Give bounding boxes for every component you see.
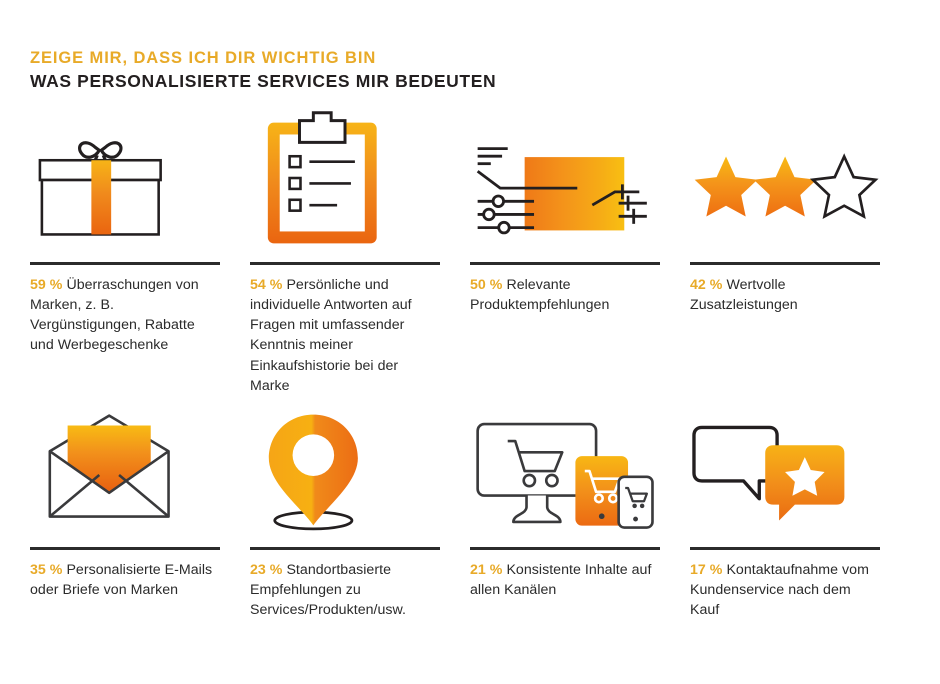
icon-container-8 [690,410,880,535]
stat-percent-5: 35 % [30,562,62,578]
chat-bubbles-star-icon [692,415,880,530]
stats-grid: 59 % Überraschungen von Marken, z. B. Ve… [30,110,910,640]
icon-container-5 [30,410,220,535]
divider-4 [690,262,880,265]
stat-text-2: Persönliche und individuelle Antworten a… [250,277,412,394]
divider-2 [250,262,440,265]
stat-caption-1: 59 % Überraschungen von Marken, z. B. Ve… [30,275,216,356]
icon-container-7 [470,410,660,535]
star-empty-3 [813,157,876,217]
stat-percent-7: 21 % [470,562,502,578]
stat-percent-6: 23 % [250,562,282,578]
map-pin-location-icon [252,410,440,535]
icon-container-1 [30,110,220,250]
poster-headline: WAS PERSONALISIERTE SERVICES MIR BEDEUTE… [30,71,890,93]
infographic-poster: ZEIGE MIR, DASS ICH DIR WICHTIG BIN WAS … [0,0,940,684]
stat-caption-3: 50 % Relevante Produktempfehlungen [470,275,656,315]
stat-percent-8: 17 % [690,562,722,578]
poster-header: ZEIGE MIR, DASS ICH DIR WICHTIG BIN WAS … [30,48,890,93]
star-filled-1 [695,157,758,217]
icon-container-2 [250,110,440,250]
three-stars-rating-icon [692,140,880,250]
stat-percent-4: 42 % [690,277,722,293]
stat-percent-2: 54 % [250,277,282,293]
stat-card-1: 59 % Überraschungen von Marken, z. B. Ve… [30,110,220,410]
stat-caption-8: 17 % Kontaktaufnahme vom Kundenservice n… [690,560,876,620]
stat-card-4: 42 % Wertvolle Zusatzleistungen [690,110,880,410]
stat-caption-5: 35 % Personalisierte E-Mails oder Briefe… [30,560,216,600]
icon-container-4 [690,110,880,250]
divider-3 [470,262,660,265]
stat-caption-6: 23 % Standortbasierte Empfehlungen zu Se… [250,560,436,620]
clipboard-checklist-icon [252,108,440,250]
stat-card-6: 23 % Standortbasierte Empfehlungen zu Se… [250,410,440,640]
stat-card-8: 17 % Kontaktaufnahme vom Kundenservice n… [690,410,880,640]
stat-percent-1: 59 % [30,277,62,293]
divider-8 [690,547,880,550]
star-filled-2 [754,157,817,217]
divider-5 [30,547,220,550]
multi-device-cart-icon [472,413,660,533]
stat-caption-2: 54 % Persönliche und individuelle Antwor… [250,275,436,396]
open-envelope-icon [32,413,220,533]
sliders-settings-icon [472,130,660,250]
stat-card-5: 35 % Personalisierte E-Mails oder Briefe… [30,410,220,640]
icon-container-3 [470,110,660,250]
stats-row-top: 59 % Überraschungen von Marken, z. B. Ve… [30,110,910,410]
stat-caption-7: 21 % Konsistente Inhalte auf allen Kanäl… [470,560,656,600]
gift-box-icon [32,115,220,250]
divider-7 [470,547,660,550]
divider-1 [30,262,220,265]
icon-container-6 [250,410,440,535]
stat-card-3: 50 % Relevante Produktempfehlungen [470,110,660,410]
stat-caption-4: 42 % Wertvolle Zusatzleistungen [690,275,876,315]
stat-card-7: 21 % Konsistente Inhalte auf allen Kanäl… [470,410,660,640]
poster-kicker: ZEIGE MIR, DASS ICH DIR WICHTIG BIN [30,48,890,69]
stat-percent-3: 50 % [470,277,502,293]
stat-card-2: 54 % Persönliche und individuelle Antwor… [250,110,440,410]
divider-6 [250,547,440,550]
stats-row-bottom: 35 % Personalisierte E-Mails oder Briefe… [30,410,910,640]
